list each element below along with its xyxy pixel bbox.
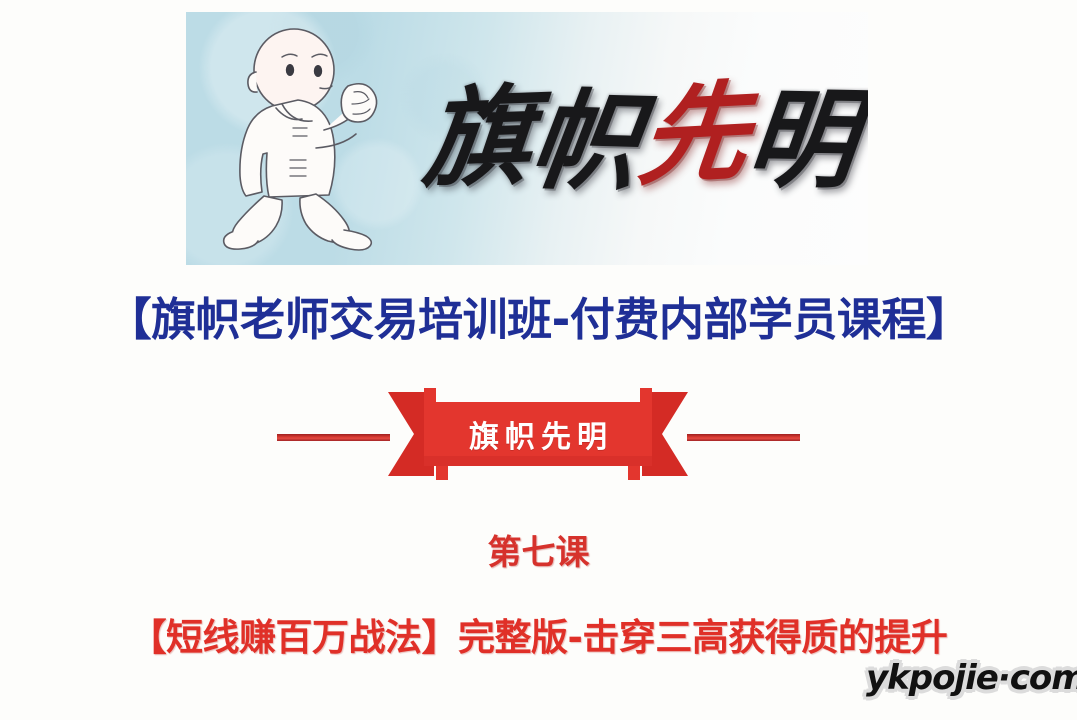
ribbon-section: 旗帜先明: [0, 388, 1077, 480]
divider-rule-left: [277, 434, 390, 441]
subtitle: 【短线赚百万战法】完整版-击穿三高获得质的提升: [0, 607, 1077, 661]
calligraphy-char-3: 先: [634, 78, 754, 192]
site-watermark: ykpojie·com: [866, 658, 1077, 698]
lesson-number-label: 第七课: [0, 525, 1077, 574]
page-title: 【旗帜老师交易培训班-付费内部学员课程】: [0, 283, 1077, 348]
taichi-boy-illustration: [220, 26, 430, 256]
calligraphy-char-2: 帜: [525, 86, 647, 197]
hero-image: 旗 帜 先 明: [186, 12, 868, 265]
calligraphy-char-4: 明: [742, 85, 861, 195]
ribbon-banner: 旗帜先明: [388, 388, 688, 480]
divider-rule-right: [687, 434, 800, 441]
calligraphy-char-1: 旗: [419, 82, 537, 194]
calligraphy-text: 旗 帜 先 明: [424, 50, 854, 225]
ribbon-label: 旗帜先明: [388, 406, 688, 462]
slide-canvas: 旗 帜 先 明 【旗帜老师交易培训班-付费内部学员课程】 旗帜先明 第七课: [0, 0, 1077, 720]
